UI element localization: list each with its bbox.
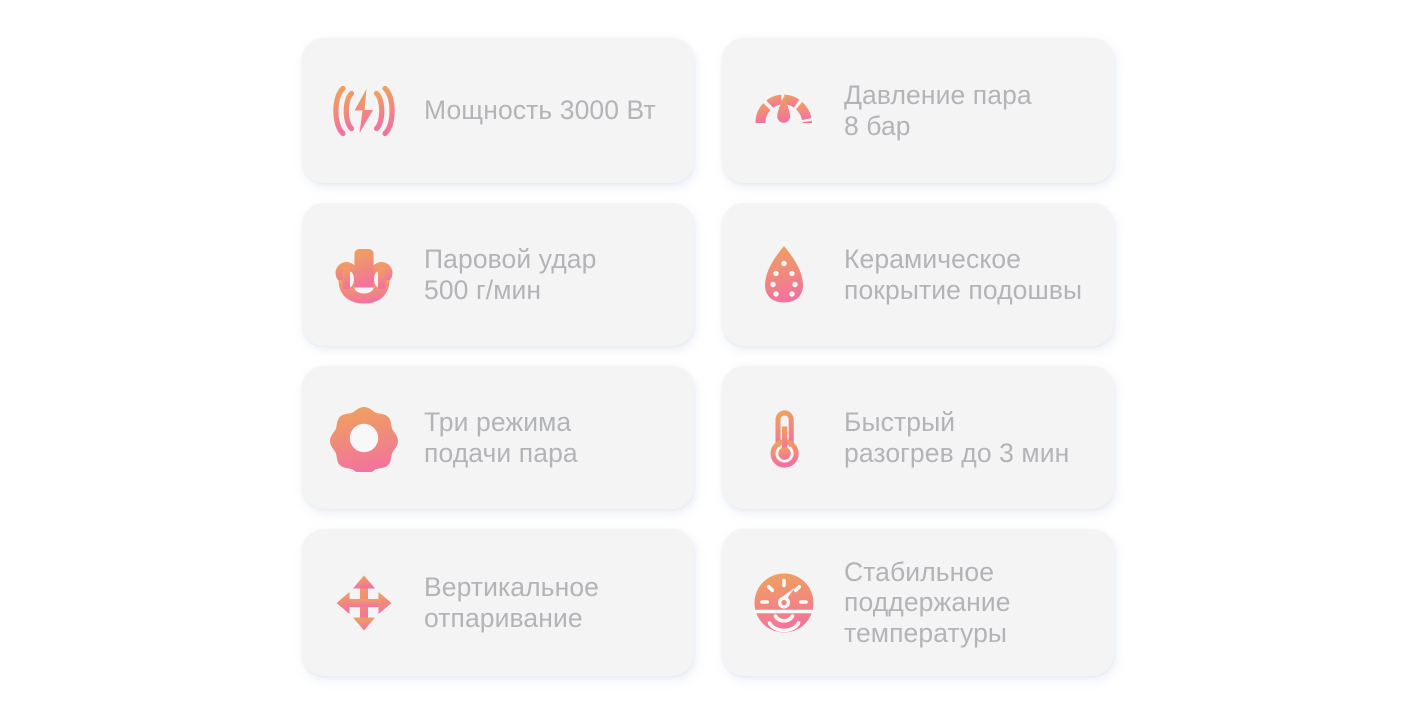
feature-grid-board: Мощность 3000 Вт Дав [0,0,1416,708]
flower-dial-icon [330,404,398,472]
feature-card-steam-modes[interactable]: Три режима подачи пара [302,366,694,509]
pressure-gauge-icon [750,77,818,145]
feature-label: Давление пара 8 бар [844,80,1032,140]
feature-label: Быстрый разогрев до 3 мин [844,407,1069,467]
feature-label: Стабильное поддержание температуры [844,557,1011,648]
thermometer-icon [750,404,818,472]
features-grid: Мощность 3000 Вт Дав [302,38,1114,676]
feature-label: Паровой удар 500 г/мин [424,244,596,304]
temperature-dial-icon [750,569,818,637]
iron-soleplate-icon [750,241,818,309]
steam-burst-icon [330,241,398,309]
feature-label: Мощность 3000 Вт [424,95,656,125]
feature-card-power[interactable]: Мощность 3000 Вт [302,38,694,183]
feature-card-ceramic-soleplate[interactable]: Керамическое покрытие подошвы [722,203,1114,346]
feature-card-fast-heatup[interactable]: Быстрый разогрев до 3 мин [722,366,1114,509]
feature-label: Вертикальное отпаривание [424,572,599,632]
feature-card-steam-boost[interactable]: Паровой удар 500 г/мин [302,203,694,346]
power-lightning-icon [330,77,398,145]
feature-card-stable-temperature[interactable]: Стабильное поддержание температуры [722,529,1114,676]
feature-card-vertical-steaming[interactable]: Вертикальное отпаривание [302,529,694,676]
feature-card-steam-pressure[interactable]: Давление пара 8 бар [722,38,1114,183]
feature-label: Три режима подачи пара [424,407,578,467]
feature-label: Керамическое покрытие подошвы [844,244,1082,304]
four-way-arrow-icon [330,569,398,637]
